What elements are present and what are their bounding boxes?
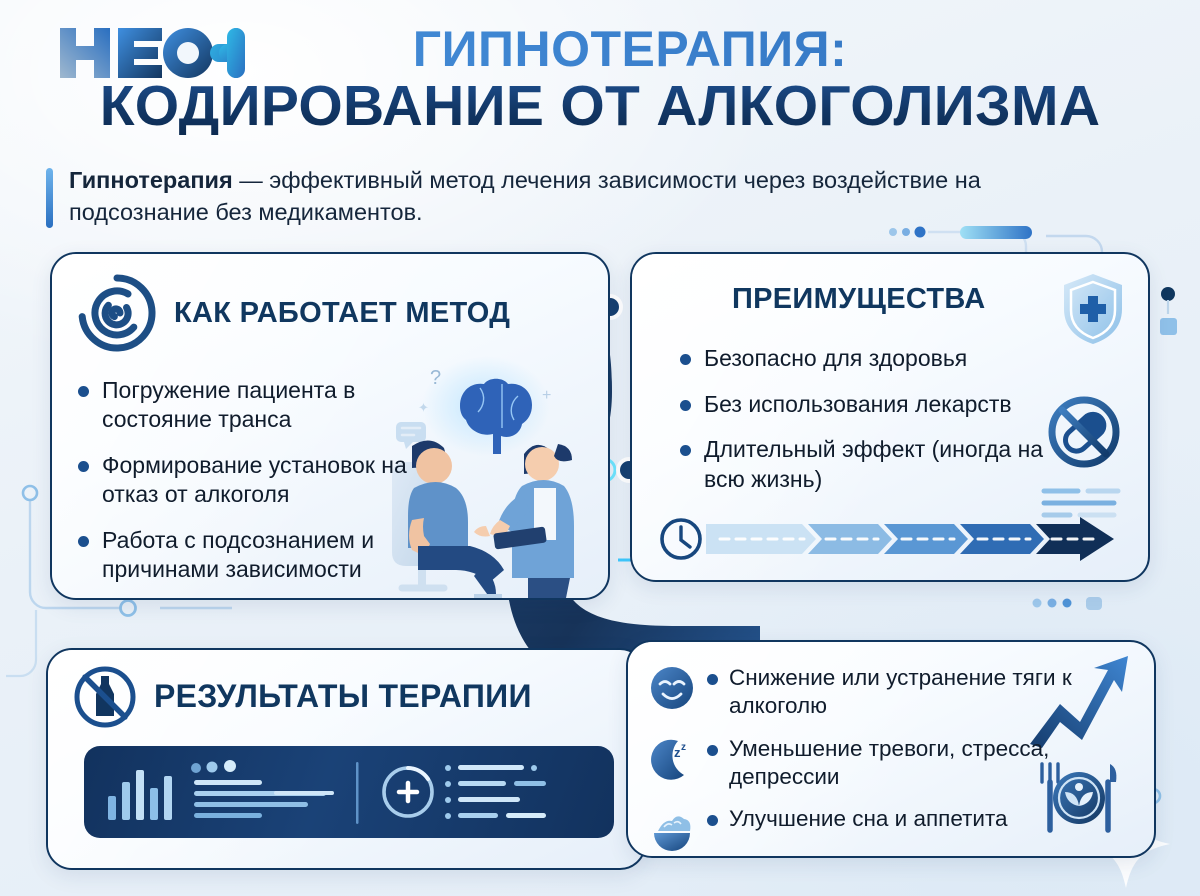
svg-text:?: ? [430, 367, 441, 389]
bullet-text: Без использования лекарств [704, 390, 1012, 419]
list-item: z z Уменьшение тревоги, стресса, депресс… [648, 735, 1078, 792]
bullet-dot [680, 445, 691, 456]
timeline-arrow [658, 516, 1128, 562]
benefits-bullet-list: Безопасно для здоровья Без использования… [680, 344, 1080, 494]
no-alcohol-icon [72, 664, 138, 730]
method-bullet-list: Погружение пациента в состояние транса Ф… [78, 376, 408, 585]
title-line-1: ГИПНОТЕРАПИЯ: [0, 24, 1200, 75]
bullet-text: Формирование установок на отказ от алког… [102, 451, 408, 510]
panel-graphics [84, 746, 614, 838]
card-method-header: КАК РАБОТАЕТ МЕТОД [52, 254, 608, 354]
circle-plus-icon [384, 768, 432, 816]
bullet-dot [707, 745, 718, 756]
list-item: Безопасно для здоровья [680, 344, 1080, 373]
svg-text:z: z [681, 742, 686, 753]
card-method-title: КАК РАБОТАЕТ МЕТОД [174, 298, 510, 328]
bullet-dot [707, 674, 718, 685]
therapy-session-illustration: ? + ✦ [382, 348, 610, 598]
bullet-dot [78, 386, 89, 397]
svg-text:+: + [542, 387, 551, 404]
list-item: Формирование установок на отказ от алког… [78, 451, 408, 510]
sleeping-moon-icon: z z [648, 735, 696, 783]
list-item: Без использования лекарств [680, 390, 1080, 419]
card-results-title: РЕЗУЛЬТАТЫ ТЕРАПИИ [154, 680, 532, 714]
bullet-text: Безопасно для здоровья [704, 344, 967, 373]
food-bowl-icon [648, 805, 696, 853]
text-lines-icon [1040, 486, 1122, 520]
bar-chart-icon [108, 770, 172, 820]
list-item: Погружение пациента в состояние транса [78, 376, 408, 435]
outcome-text: Уменьшение тревоги, стресса, депрессии [729, 735, 1078, 792]
card-results-header: РЕЗУЛЬТАТЫ ТЕРАПИИ [48, 650, 644, 730]
bullet-text: Длительный эффект (иногда на всю жизнь) [704, 435, 1080, 494]
checklist-icon [445, 765, 546, 819]
bullet-dot [707, 815, 718, 826]
lede-text: Гипнотерапия — эффективный метод лечения… [69, 165, 1106, 228]
bullet-text: Работа с подсознанием и причинами зависи… [102, 526, 408, 585]
hypnosis-spiral-icon [76, 272, 158, 354]
card-benefits-title: ПРЕИМУЩЕСТВА [732, 284, 985, 314]
card-how-method-works: КАК РАБОТАЕТ МЕТОД Погружение пациента в… [50, 252, 610, 600]
lede-accent-bar [46, 168, 53, 228]
card-outcomes: Снижение или устранение тяги к алкоголю … [626, 640, 1156, 858]
results-data-panel [84, 746, 614, 838]
infographic-root: ГИПНОТЕРАПИЯ: КОДИРОВАНИЕ ОТ АЛКОГОЛИЗМА… [0, 0, 1200, 896]
bullet-dot [680, 354, 691, 365]
bullet-text: Погружение пациента в состояние транса [102, 376, 408, 435]
list-item: Длительный эффект (иногда на всю жизнь) [680, 435, 1080, 494]
no-pills-icon [1046, 394, 1122, 470]
list-item: Снижение или устранение тяги к алкоголю [648, 664, 1078, 721]
outcome-text: Улучшение сна и аппетита [729, 805, 1008, 833]
title-line-2: КОДИРОВАНИЕ ОТ АЛКОГОЛИЗМА [0, 77, 1200, 135]
relaxed-face-icon [648, 664, 696, 712]
bullet-dot [78, 536, 89, 547]
svg-text:✦: ✦ [418, 400, 429, 415]
bullet-dot [680, 400, 691, 411]
outcome-text: Снижение или устранение тяги к алкоголю [729, 664, 1078, 721]
list-item: Улучшение сна и аппетита [648, 805, 1078, 853]
card-benefits: ПРЕИМУЩЕСТВА [630, 252, 1150, 582]
lede-paragraph: Гипнотерапия — эффективный метод лечения… [46, 165, 1106, 228]
card-therapy-results: РЕЗУЛЬТАТЫ ТЕРАПИИ [46, 648, 646, 870]
bullet-dot [78, 461, 89, 472]
panel-text-lines [191, 760, 334, 818]
svg-text:z: z [674, 745, 681, 760]
outcomes-list: Снижение или устранение тяги к алкоголю … [648, 664, 1078, 858]
shield-plus-icon [1060, 272, 1126, 346]
lede-strong: Гипнотерапия [69, 167, 233, 193]
page-title: ГИПНОТЕРАПИЯ: КОДИРОВАНИЕ ОТ АЛКОГОЛИЗМА [0, 24, 1200, 135]
list-item: Работа с подсознанием и причинами зависи… [78, 526, 408, 585]
